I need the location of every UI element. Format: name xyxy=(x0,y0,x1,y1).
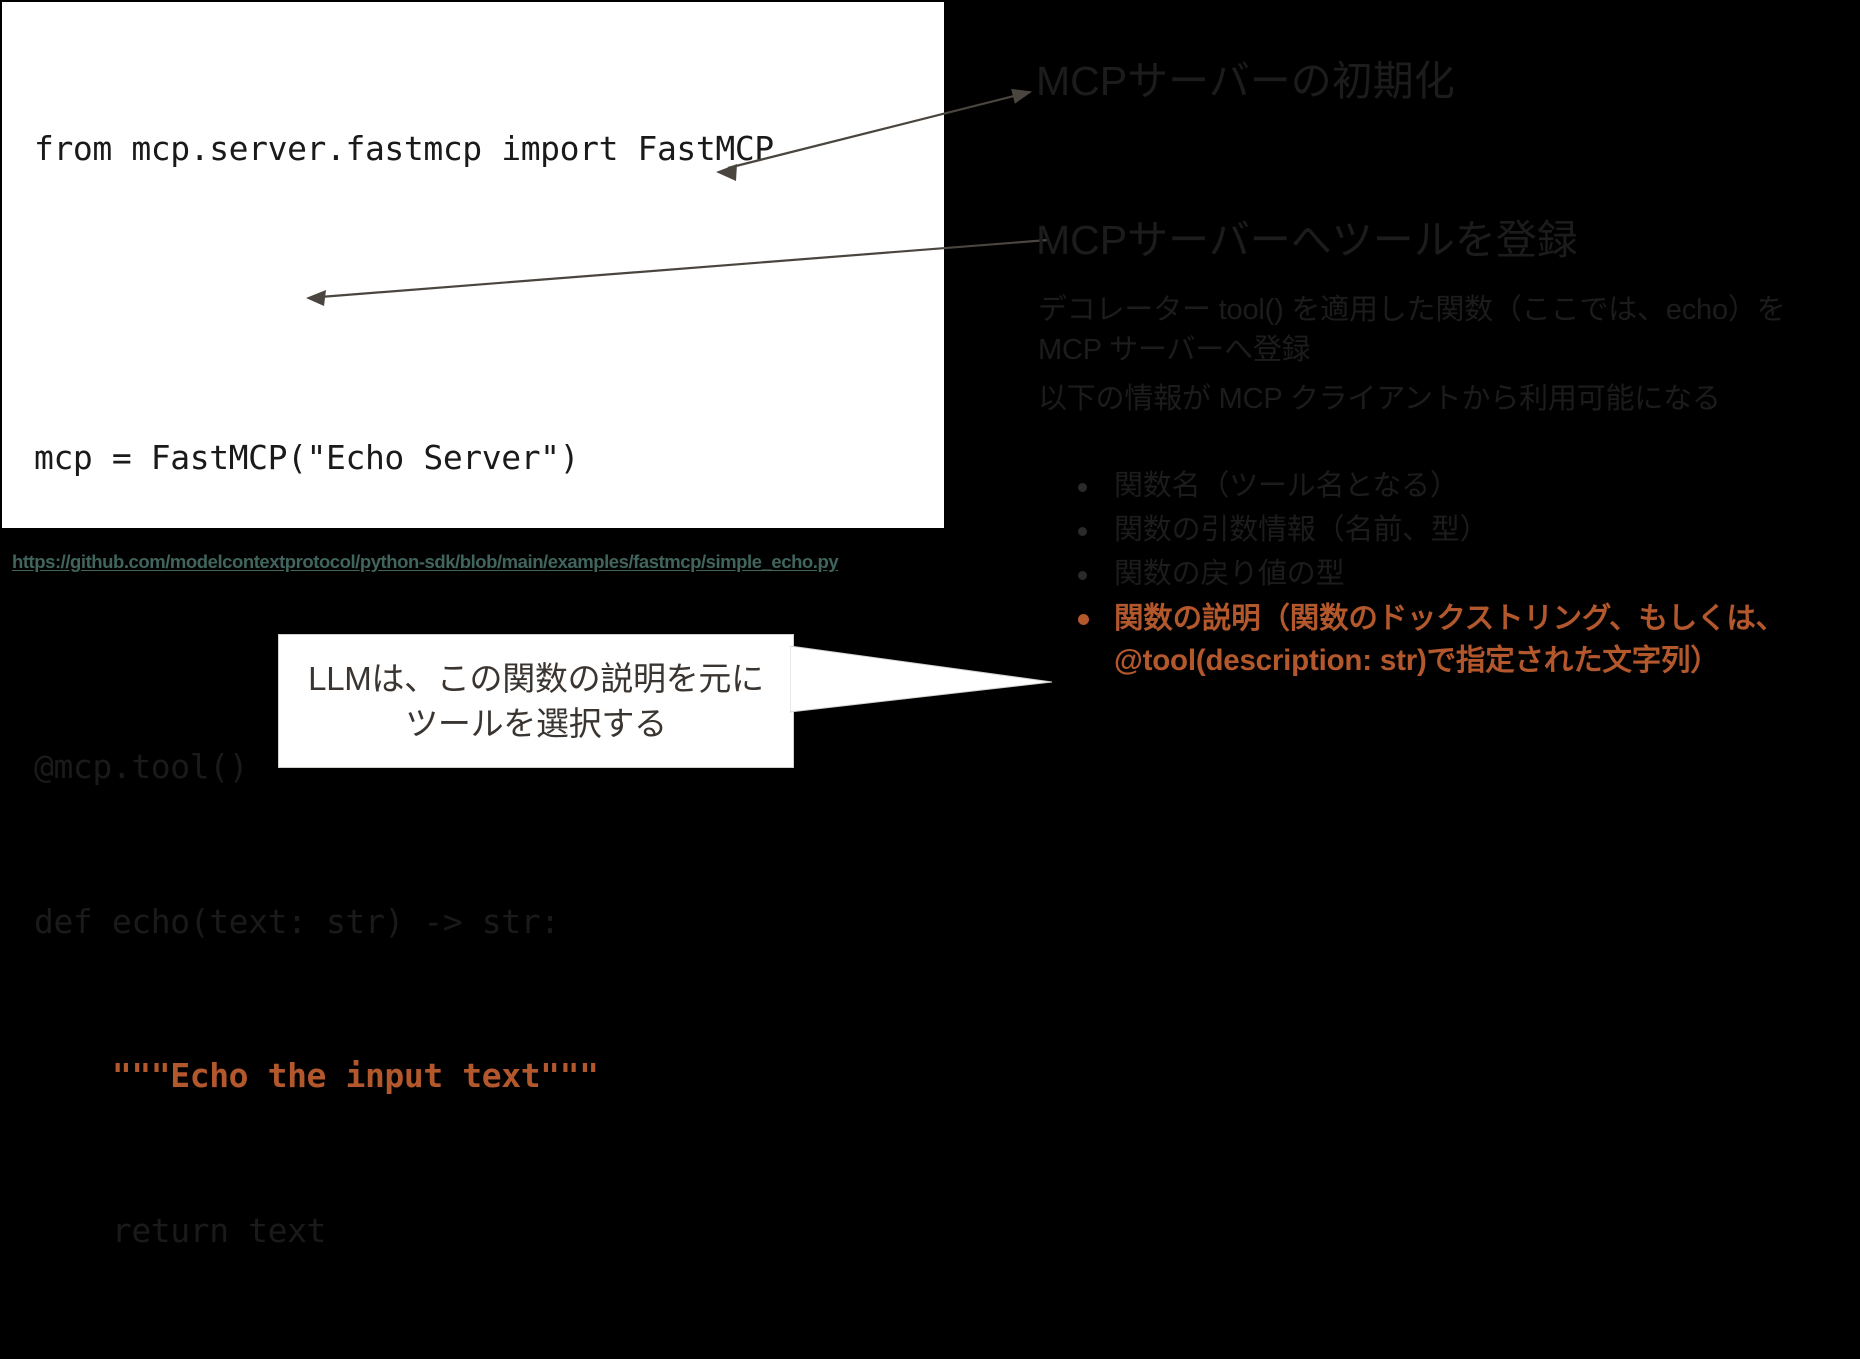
list-item-label: 関数の引数情報（名前、型） xyxy=(1114,514,1488,546)
heading-register-tool: MCPサーバーへツールを登録 xyxy=(1036,215,1578,265)
code-line-def-echo: def echo(text: str) -> str: xyxy=(34,896,934,948)
paragraph-decorator-description: デコレーター tool() を適用した関数（ここでは、echo）を MCP サー… xyxy=(1038,290,1828,370)
bullet-dot-icon xyxy=(1078,571,1087,580)
list-item-label: 関数の戻り値の型 xyxy=(1114,558,1344,590)
code-line-blank-1 xyxy=(34,278,934,330)
code-line-server-init: mcp = FastMCP("Echo Server") xyxy=(34,432,934,484)
list-item: 関数の引数情報（名前、型） xyxy=(1056,510,1856,551)
tool-metadata-list: 関数名（ツール名となる） 関数の引数情報（名前、型） 関数の戻り値の型 関数の説… xyxy=(1056,466,1856,685)
bullet-dot-icon xyxy=(1078,483,1087,492)
paragraph-available-info: 以下の情報が MCP クライアントから利用可能になる xyxy=(1038,379,1828,419)
callout-box: LLMは、この関数の説明を元にツールを選択する xyxy=(278,634,794,768)
explanation-panel: MCPサーバーの初期化 MCPサーバーへツールを登録 デコレーター tool()… xyxy=(1036,0,1860,772)
list-item: 関数名（ツール名となる） xyxy=(1056,466,1856,507)
code-indent xyxy=(34,1056,112,1095)
list-item-label: 関数の説明（関数のドックストリング、もしくは、@tool(description… xyxy=(1114,602,1785,677)
list-item: 関数の戻り値の型 xyxy=(1056,554,1856,595)
code-line-docstring: """Echo the input text""" xyxy=(34,1050,934,1102)
source-url-link[interactable]: https://github.com/modelcontextprotocol/… xyxy=(12,551,838,573)
code-line-blank-2 xyxy=(34,587,934,639)
code-line-return: return text xyxy=(34,1205,934,1257)
code-line-import: from mcp.server.fastmcp import FastMCP xyxy=(34,123,934,175)
docstring-text: """Echo the input text""" xyxy=(112,1056,599,1095)
bullet-dot-icon xyxy=(1078,614,1089,625)
list-item-highlighted: 関数の説明（関数のドックストリング、もしくは、@tool(description… xyxy=(1056,598,1856,682)
heading-mcp-server-init: MCPサーバーの初期化 xyxy=(1036,56,1455,106)
callout-text: LLMは、この関数の説明を元にツールを選択する xyxy=(279,656,793,746)
bullet-dot-icon xyxy=(1078,527,1087,536)
list-item-label: 関数名（ツール名となる） xyxy=(1114,470,1459,502)
code-snippet-card: from mcp.server.fastmcp import FastMCP m… xyxy=(2,2,944,528)
